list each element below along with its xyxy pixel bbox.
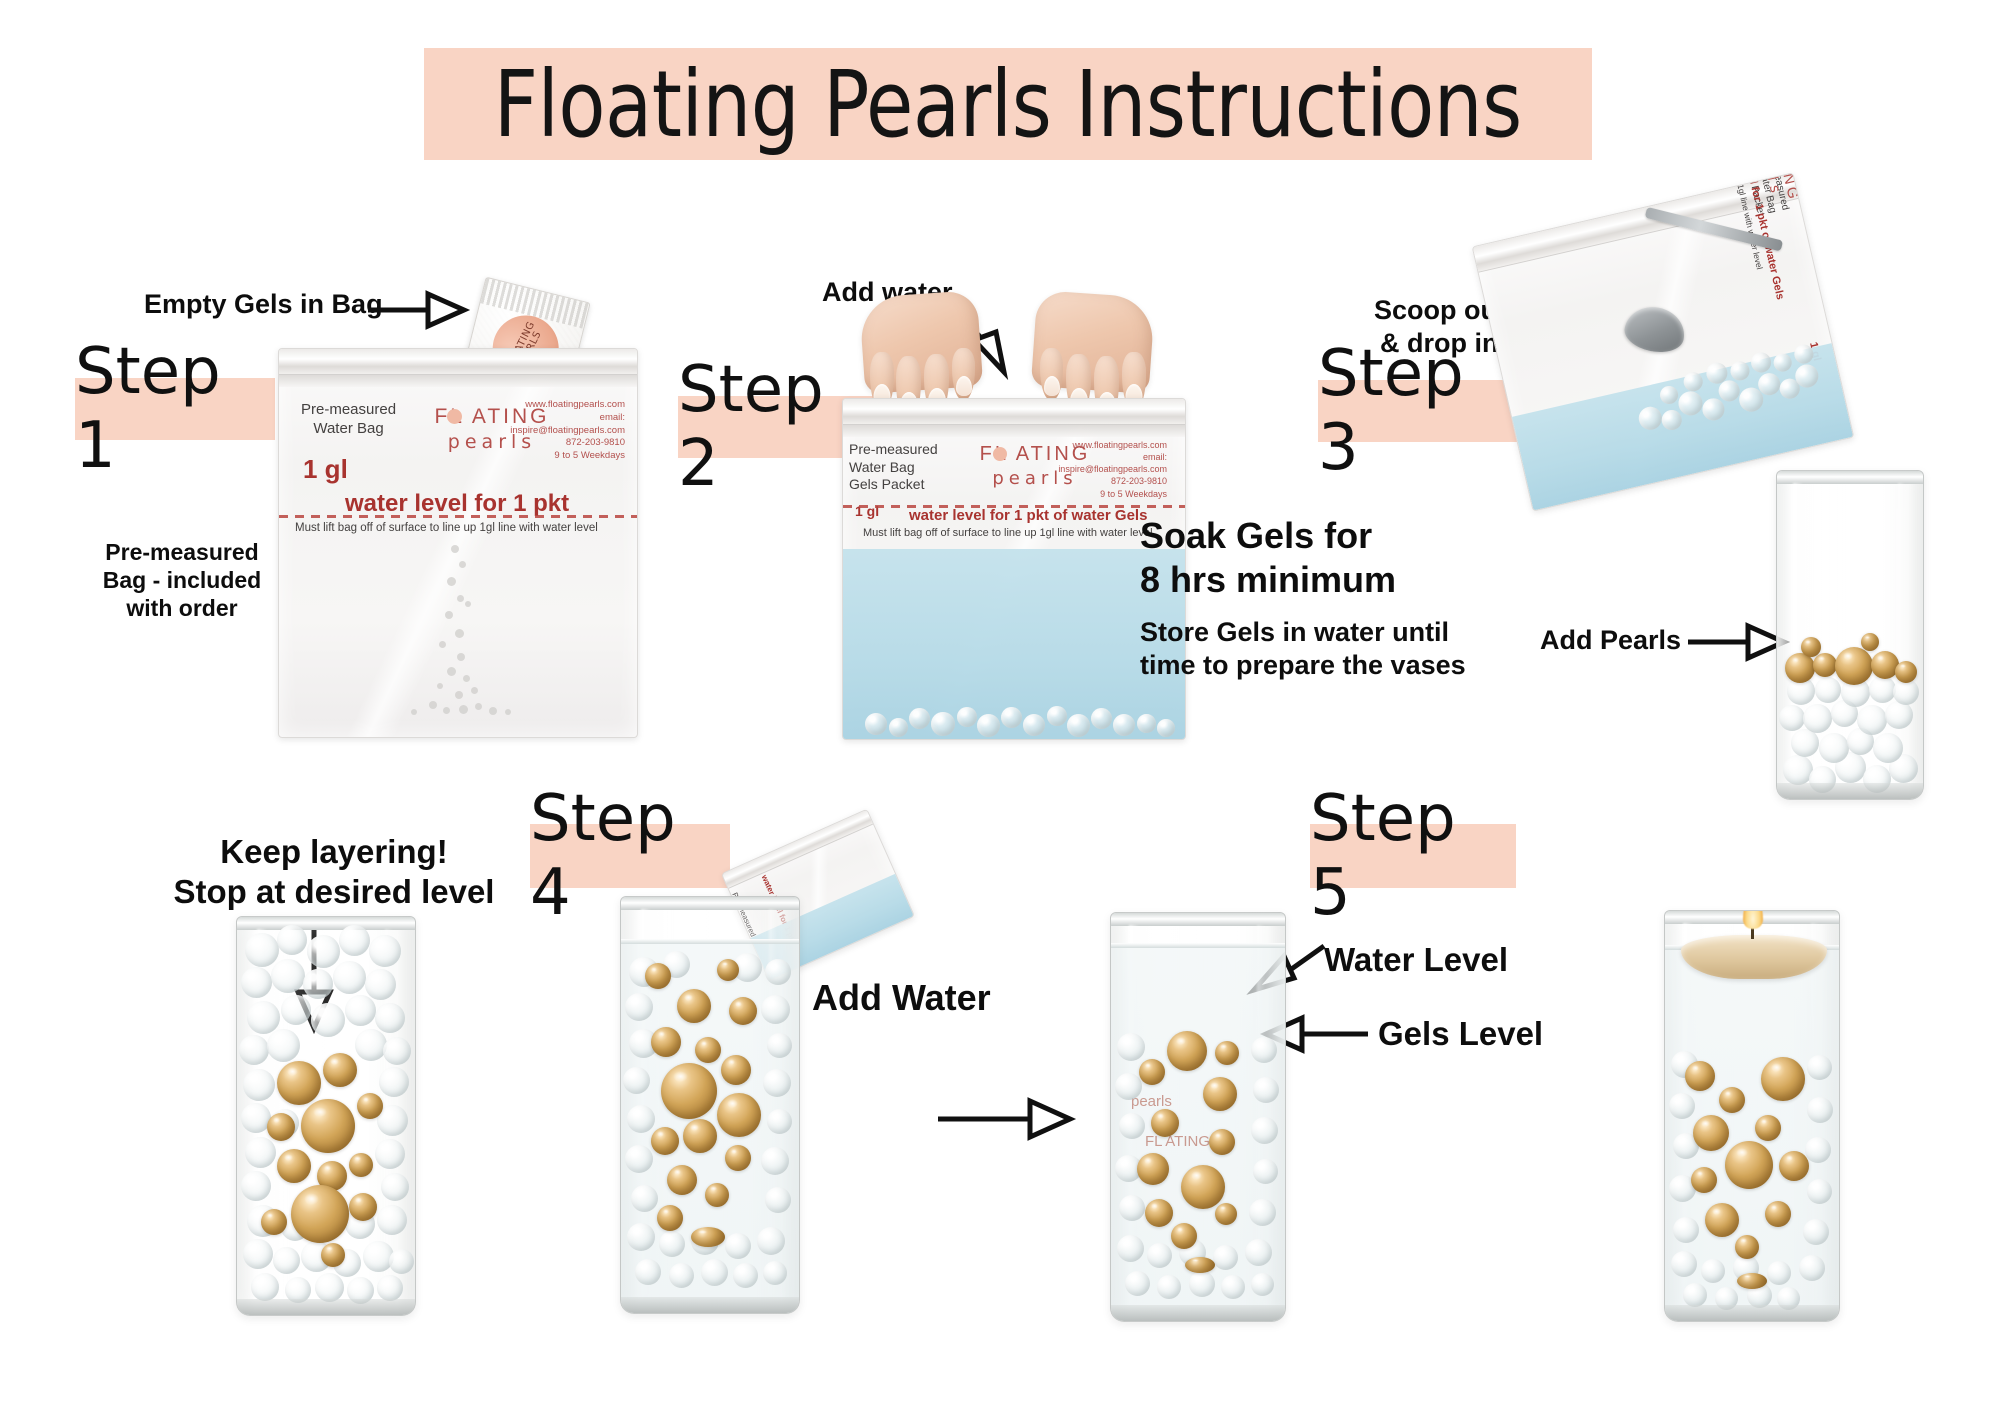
callout-keep-layering: Keep layering! Stop at desired level xyxy=(134,832,534,913)
infographic-canvas: Floating Pearls Instructions Empty Gels … xyxy=(0,0,2000,1427)
bag2-premeasured-l2: Water Bag xyxy=(849,459,938,477)
bag2-contact-website: www.floatingpearls.com xyxy=(1058,439,1167,451)
step-chip-3: Step 3 xyxy=(1318,380,1518,442)
bag-zipper-seam-step2 xyxy=(843,425,1185,437)
callout-store-gels: Store Gels in water until time to prepar… xyxy=(1140,616,1480,682)
vase-step4-base xyxy=(621,1297,799,1313)
keep-layering-line2: Stop at desired level xyxy=(134,872,534,912)
right-hand-nail-1 xyxy=(1044,376,1060,396)
vase-step3 xyxy=(1776,470,1924,800)
bag2-brand-accent-dot xyxy=(993,447,1007,461)
bag2-fill-line-1gl xyxy=(843,505,1185,508)
page-title-banner: Floating Pearls Instructions xyxy=(424,48,1592,160)
step-chip-5-label: Step 5 xyxy=(1310,782,1516,930)
keep-layering-line1: Keep layering! xyxy=(134,832,534,872)
vase-final-base xyxy=(1665,1305,1839,1321)
vase-step3-base xyxy=(1777,783,1923,799)
right-hand-finger-1 xyxy=(1040,348,1063,400)
bag4-zipper xyxy=(722,810,873,889)
store-line2: time to prepare the vases xyxy=(1140,649,1480,682)
water-bag-step1: Pre-measured Water Bag 1 gl FL ATING pea… xyxy=(278,348,638,738)
left-hand-nail-4 xyxy=(956,376,972,396)
bag2-contact-block: www.floatingpearls.com email: inspire@fl… xyxy=(1058,439,1167,500)
vase-layered-contents xyxy=(237,917,416,1316)
step-chip-1: Step 1 xyxy=(75,378,275,440)
callout-add-water-step4-label: Add Water xyxy=(812,977,991,1018)
water-bag-step2: Pre-measured Water Bag Gels Packet FL AT… xyxy=(842,398,1186,740)
bag2-contact-email-label: email: xyxy=(1058,451,1167,463)
soak-line2: 8 hrs minimum xyxy=(1140,558,1470,602)
floating-candle xyxy=(1681,935,1827,979)
store-line1: Store Gels in water until xyxy=(1140,616,1480,649)
callout-add-pearls: Add Pearls xyxy=(1540,624,1690,657)
vase-final-with-candle xyxy=(1664,910,1840,1322)
flame-icon xyxy=(1743,910,1763,929)
vase-step3-gel-layer xyxy=(1777,599,1924,799)
callout-add-pearls-label: Add Pearls xyxy=(1540,625,1681,655)
premeasured-note-line2: Bag - included xyxy=(92,566,272,594)
vase-step5-contents xyxy=(1111,913,1286,1322)
step-chip-4: Step 4 xyxy=(530,824,730,888)
bag2-contact-hours: 9 to 5 Weekdays xyxy=(1058,488,1167,500)
vase-layered xyxy=(236,916,416,1316)
vase-step4 xyxy=(620,896,800,1314)
callout-gels-level-label: Gels Level xyxy=(1378,1015,1543,1052)
premeasured-note-line3: with order xyxy=(92,594,272,622)
spoon-bowl xyxy=(1621,302,1688,357)
water-bag-step3-group: Pre-measured Water Bag Gels Packet FL AT… xyxy=(1472,172,1855,511)
callout-water-level: Water Level xyxy=(1324,940,1544,980)
left-hand-finger-4 xyxy=(952,348,975,400)
arrow-right-icon-empty-gels xyxy=(368,290,466,330)
soak-line1: Soak Gels for xyxy=(1140,514,1470,558)
bag2-swollen-gels xyxy=(843,691,1186,739)
callout-empty-gels-label: Empty Gels in Bag xyxy=(144,289,383,319)
step-chip-1-label: Step 1 xyxy=(75,335,275,483)
bag2-label-fine-print: Must lift bag off of surface to line up … xyxy=(863,527,1153,541)
callout-empty-gels-in-bag: Empty Gels in Bag xyxy=(144,288,404,321)
dry-gel-granules xyxy=(279,349,638,738)
arrow-right-icon-transition xyxy=(938,1096,1072,1142)
bag2-contact-phone: 872-203-9810 xyxy=(1058,475,1167,487)
page-title: Floating Pearls Instructions xyxy=(494,51,1522,158)
callout-premeasured-bag-note: Pre-measured Bag - included with order xyxy=(92,538,272,622)
vase-step5-base xyxy=(1111,1305,1285,1321)
bag2-label-water-level: water level for 1 pkt of water Gels xyxy=(909,507,1147,526)
arrow-right-icon-add-pearls xyxy=(1688,622,1786,662)
vase-layered-base xyxy=(237,1299,415,1315)
vase-step5: pearls FL ATING xyxy=(1110,912,1286,1322)
bag-label-premeasured-step2: Pre-measured Water Bag Gels Packet xyxy=(849,441,938,494)
premeasured-note-line1: Pre-measured xyxy=(92,538,272,566)
bag-zipper-step2 xyxy=(843,399,1185,425)
vase-step4-contents xyxy=(621,897,800,1314)
callout-soak-gels: Soak Gels for 8 hrs minimum xyxy=(1140,514,1470,602)
step-chip-3-label: Step 3 xyxy=(1318,337,1518,485)
bag2-premeasured-l1: Pre-measured xyxy=(849,441,938,459)
step-chip-5: Step 5 xyxy=(1310,824,1516,888)
bag2-contact-email: inspire@floatingpearls.com xyxy=(1058,463,1167,475)
callout-add-water-step4: Add Water xyxy=(812,976,1032,1020)
callout-water-level-label: Water Level xyxy=(1324,941,1508,978)
callout-gels-level: Gels Level xyxy=(1378,1014,1598,1054)
bag2-gels-packet: Gels Packet xyxy=(849,476,938,494)
